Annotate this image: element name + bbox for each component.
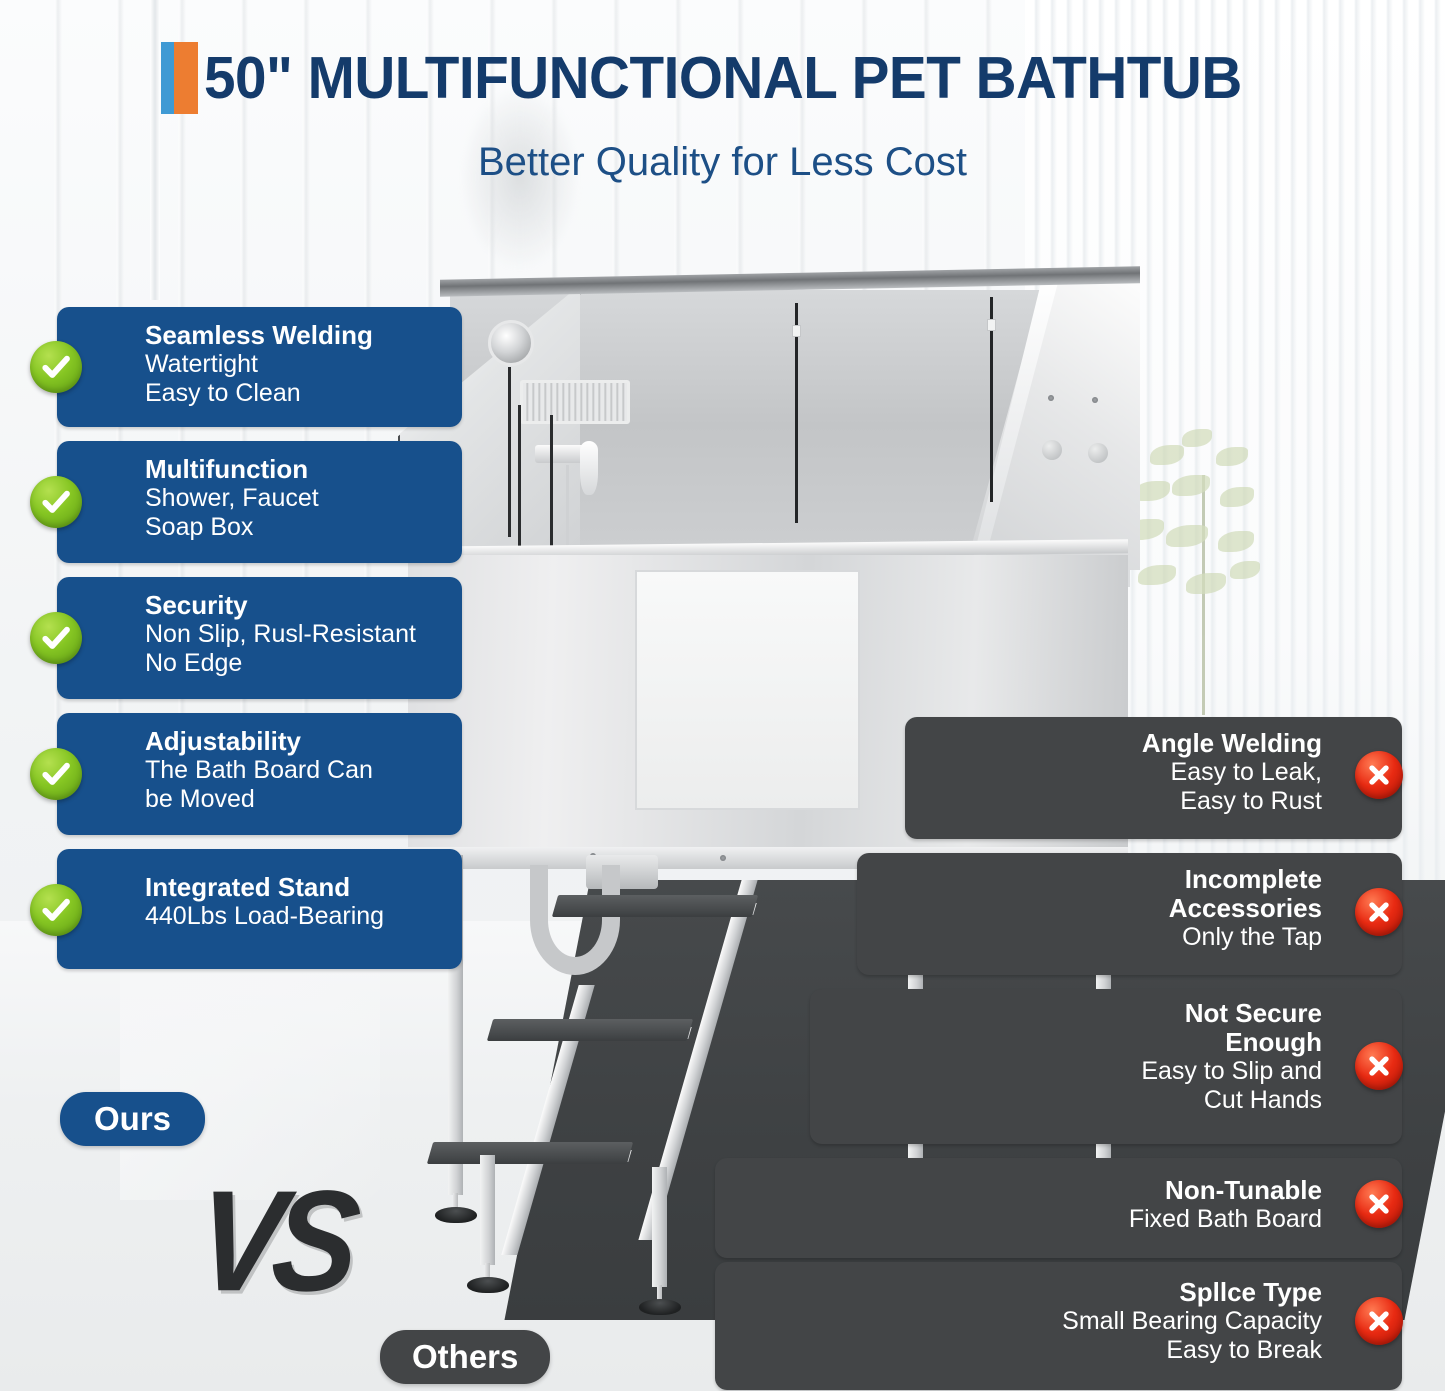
infographic-canvas: 50" MULTIFUNCTIONAL PET BATHTUB Better Q… [0,0,1445,1391]
step-leg [652,1167,667,1287]
check-icon [30,884,82,936]
title-row: 50" MULTIFUNCTIONAL PET BATHTUB [0,0,1445,114]
feature-line: Non Slip, Rusl-Resistant [145,620,446,649]
drawback-line: Cut Hands [828,1086,1322,1115]
plant-leaf [1230,561,1260,579]
shower-hose [518,405,521,555]
feature-line: The Bath Board Can [145,756,446,785]
feature-card-seamless-welding[interactable]: Seamless Welding Watertight Easy to Clea… [57,307,462,427]
bath-board [635,570,860,810]
feature-line: Shower, Faucet [145,484,446,513]
drawback-line: Easy to Break [733,1336,1322,1365]
drawback-title: Spllce Type [733,1278,1322,1307]
drawback-line: Small Bearing Capacity [733,1307,1322,1336]
check-icon [30,748,82,800]
step-leg [480,1155,495,1265]
drawback-card-non-tunable[interactable]: Non-Tunable Fixed Bath Board [715,1158,1402,1258]
feature-title: Multifunction [145,455,446,484]
feature-title: Security [145,591,446,620]
step-tread [427,1142,633,1164]
feature-line: No Edge [145,649,446,678]
drawback-line: Fixed Bath Board [733,1205,1322,1234]
accent-bar-orange [174,42,198,114]
cross-icon [1355,751,1403,799]
feature-card-integrated-stand[interactable]: Integrated Stand 440Lbs Load-Bearing [57,849,462,969]
check-icon [30,341,82,393]
feature-line: Soap Box [145,513,446,542]
drawback-card-angle-welding[interactable]: Angle Welding Easy to Leak, Easy to Rust [905,717,1402,839]
drawback-card-spllce-type[interactable]: Spllce Type Small Bearing Capacity Easy … [715,1262,1402,1390]
others-badge: Others [380,1330,550,1384]
soap-box [520,380,630,424]
drawback-title: Angle Welding [923,729,1322,758]
header: 50" MULTIFUNCTIONAL PET BATHTUB Better Q… [0,0,1445,185]
page-title: 50" MULTIFUNCTIONAL PET BATHTUB [204,44,1242,112]
adjustable-foot [435,1207,477,1223]
cross-icon [1355,1180,1403,1228]
feature-card-multifunction[interactable]: Multifunction Shower, Faucet Soap Box [57,441,462,563]
feature-line: Easy to Clean [145,379,446,408]
cross-icon [1355,1297,1403,1345]
drawback-title: Enough [828,1028,1322,1057]
plant-stem [1202,475,1205,715]
vs-mark: VS [190,1159,356,1324]
cross-icon [1355,1042,1403,1090]
ours-badge: Ours [60,1092,205,1146]
step-tread [552,895,758,917]
cable-clip [987,319,996,331]
screw [1092,397,1098,403]
drawback-line: Only the Tap [875,923,1322,952]
drawback-title: Incomplete [875,865,1322,894]
faucet-lever [580,441,598,495]
drawback-card-incomplete-accessories[interactable]: Incomplete Accessories Only the Tap [857,853,1402,975]
plant-leaf [1220,487,1254,507]
feature-title: Adjustability [145,727,446,756]
check-icon [30,612,82,664]
drawback-line: Easy to Slip and [828,1057,1322,1086]
step-tread [487,1019,693,1041]
feature-title: Seamless Welding [145,321,446,350]
accent-bar-blue [161,42,174,114]
adjustable-foot [467,1277,509,1293]
screw [1048,395,1054,401]
plant-leaf [1218,531,1254,552]
page-subtitle: Better Quality for Less Cost [0,140,1445,185]
cross-icon [1355,888,1403,936]
check-icon [30,476,82,528]
plant-leaf [1186,573,1226,594]
feature-line: be Moved [145,785,446,814]
shower-hose [550,415,553,560]
feature-card-security[interactable]: Security Non Slip, Rusl-Resistant No Edg… [57,577,462,699]
shower-head-icon [488,320,534,366]
drawback-line: Easy to Leak, [923,758,1322,787]
feature-card-adjustability[interactable]: Adjustability The Bath Board Can be Move… [57,713,462,835]
feature-line: 440Lbs Load-Bearing [145,902,446,931]
accent-bars [161,42,198,114]
feature-title: Integrated Stand [145,873,446,902]
drawback-title: Accessories [875,894,1322,923]
screw [720,855,726,861]
wall-knob [1042,440,1062,460]
drawback-title: Not Secure [828,999,1322,1028]
feature-line: Watertight [145,350,446,379]
adjustable-foot [639,1299,681,1315]
drawback-title: Non-Tunable [733,1176,1322,1205]
plant-leaf [1216,447,1248,466]
shower-hose [508,367,511,537]
drawback-card-not-secure-enough[interactable]: Not Secure Enough Easy to Slip and Cut H… [810,989,1402,1144]
cable-clip [792,325,801,337]
plant-leaf [1182,429,1212,447]
drain-hose [530,865,620,975]
drawback-line: Easy to Rust [923,787,1322,816]
wall-knob [1088,443,1108,463]
